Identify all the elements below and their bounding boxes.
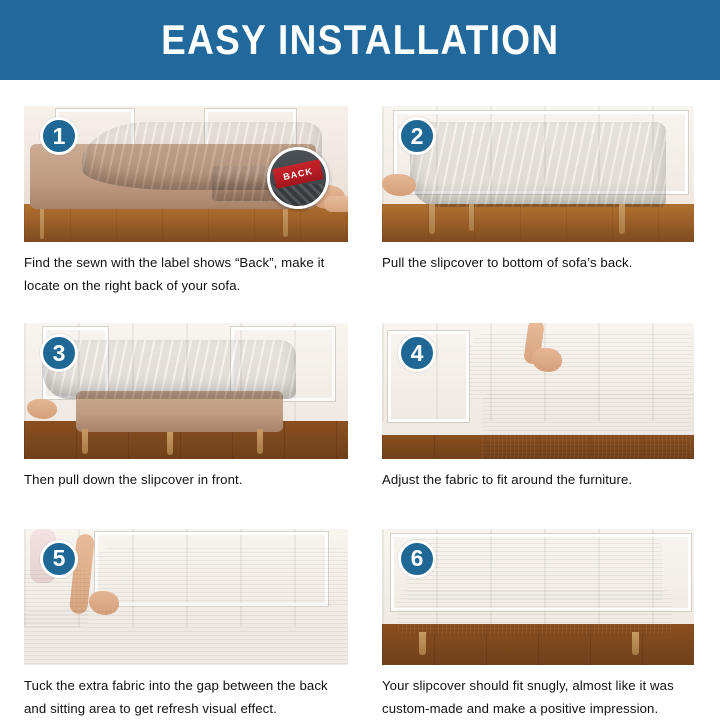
- step-item-6: 6 Your slipcover should fit snugly, almo…: [360, 503, 720, 720]
- step-caption-4: Adjust the fabric to fit around the furn…: [382, 468, 694, 491]
- sofa-seat-covered: [398, 589, 673, 635]
- sofa-leg: [82, 429, 88, 453]
- step-caption-5: Tuck the extra fabric into the gap betwe…: [24, 674, 348, 720]
- sofa-leg: [40, 209, 44, 239]
- sofa-backrest-covered: [469, 334, 694, 399]
- room-floor: [24, 204, 348, 242]
- sofa-seat-covered: [482, 394, 694, 459]
- step-number-badge-1: 1: [40, 117, 78, 155]
- back-label-text: BACK: [282, 166, 313, 182]
- step-number-badge-6: 6: [398, 540, 436, 578]
- step-number-badge-2: 2: [398, 117, 436, 155]
- back-label-callout: BACK: [267, 147, 329, 209]
- step-photo-6: 6: [382, 529, 694, 665]
- step-photo-1: BACK 1: [24, 106, 348, 242]
- sofa-leg: [167, 432, 173, 455]
- step-item-5: 5 Tuck the extra fabric into the gap bet…: [0, 503, 360, 720]
- page-header: EASY INSTALLATION: [0, 0, 720, 80]
- step-photo-4: 4: [382, 323, 694, 459]
- step-photo-5: 5: [24, 529, 348, 665]
- step-item-3: 3 Then pull down the slipcover in front.: [0, 297, 360, 503]
- covered-sofa: [410, 122, 666, 206]
- step-item-1: BACK 1 Find the sewn with the label show…: [0, 80, 360, 297]
- step-number-badge-5: 5: [40, 540, 78, 578]
- steps-grid: BACK 1 Find the sewn with the label show…: [0, 80, 720, 720]
- sofa-backrest-covered: [95, 548, 348, 605]
- step-item-2: 2 Pull the slipcover to bottom of sofa’s…: [360, 80, 720, 297]
- step-caption-1: Find the sewn with the label shows “Back…: [24, 251, 348, 297]
- arm: [324, 196, 348, 212]
- step-number-badge-4: 4: [398, 334, 436, 372]
- sofa-leg: [469, 204, 474, 231]
- sofa-leg: [429, 204, 435, 234]
- step-number-badge-3: 3: [40, 334, 78, 372]
- hand: [382, 174, 416, 196]
- sofa-leg: [419, 632, 426, 655]
- sofa-leg: [632, 632, 639, 655]
- sofa-leg: [257, 429, 263, 453]
- step-caption-3: Then pull down the slipcover in front.: [24, 468, 348, 491]
- hand: [532, 348, 562, 372]
- step-photo-2: 2: [382, 106, 694, 242]
- slipcover-back: [43, 340, 296, 400]
- sofa-leg: [283, 209, 288, 236]
- step-caption-6: Your slipcover should fit snugly, almost…: [382, 674, 694, 720]
- sofa-leg: [619, 204, 625, 234]
- step-photo-3: 3: [24, 323, 348, 459]
- step-caption-2: Pull the slipcover to bottom of sofa’s b…: [382, 251, 694, 274]
- sofa-seat-covered: [24, 608, 348, 665]
- step-item-4: 4 Adjust the fabric to fit around the fu…: [360, 297, 720, 503]
- page-title: EASY INSTALLATION: [161, 16, 559, 64]
